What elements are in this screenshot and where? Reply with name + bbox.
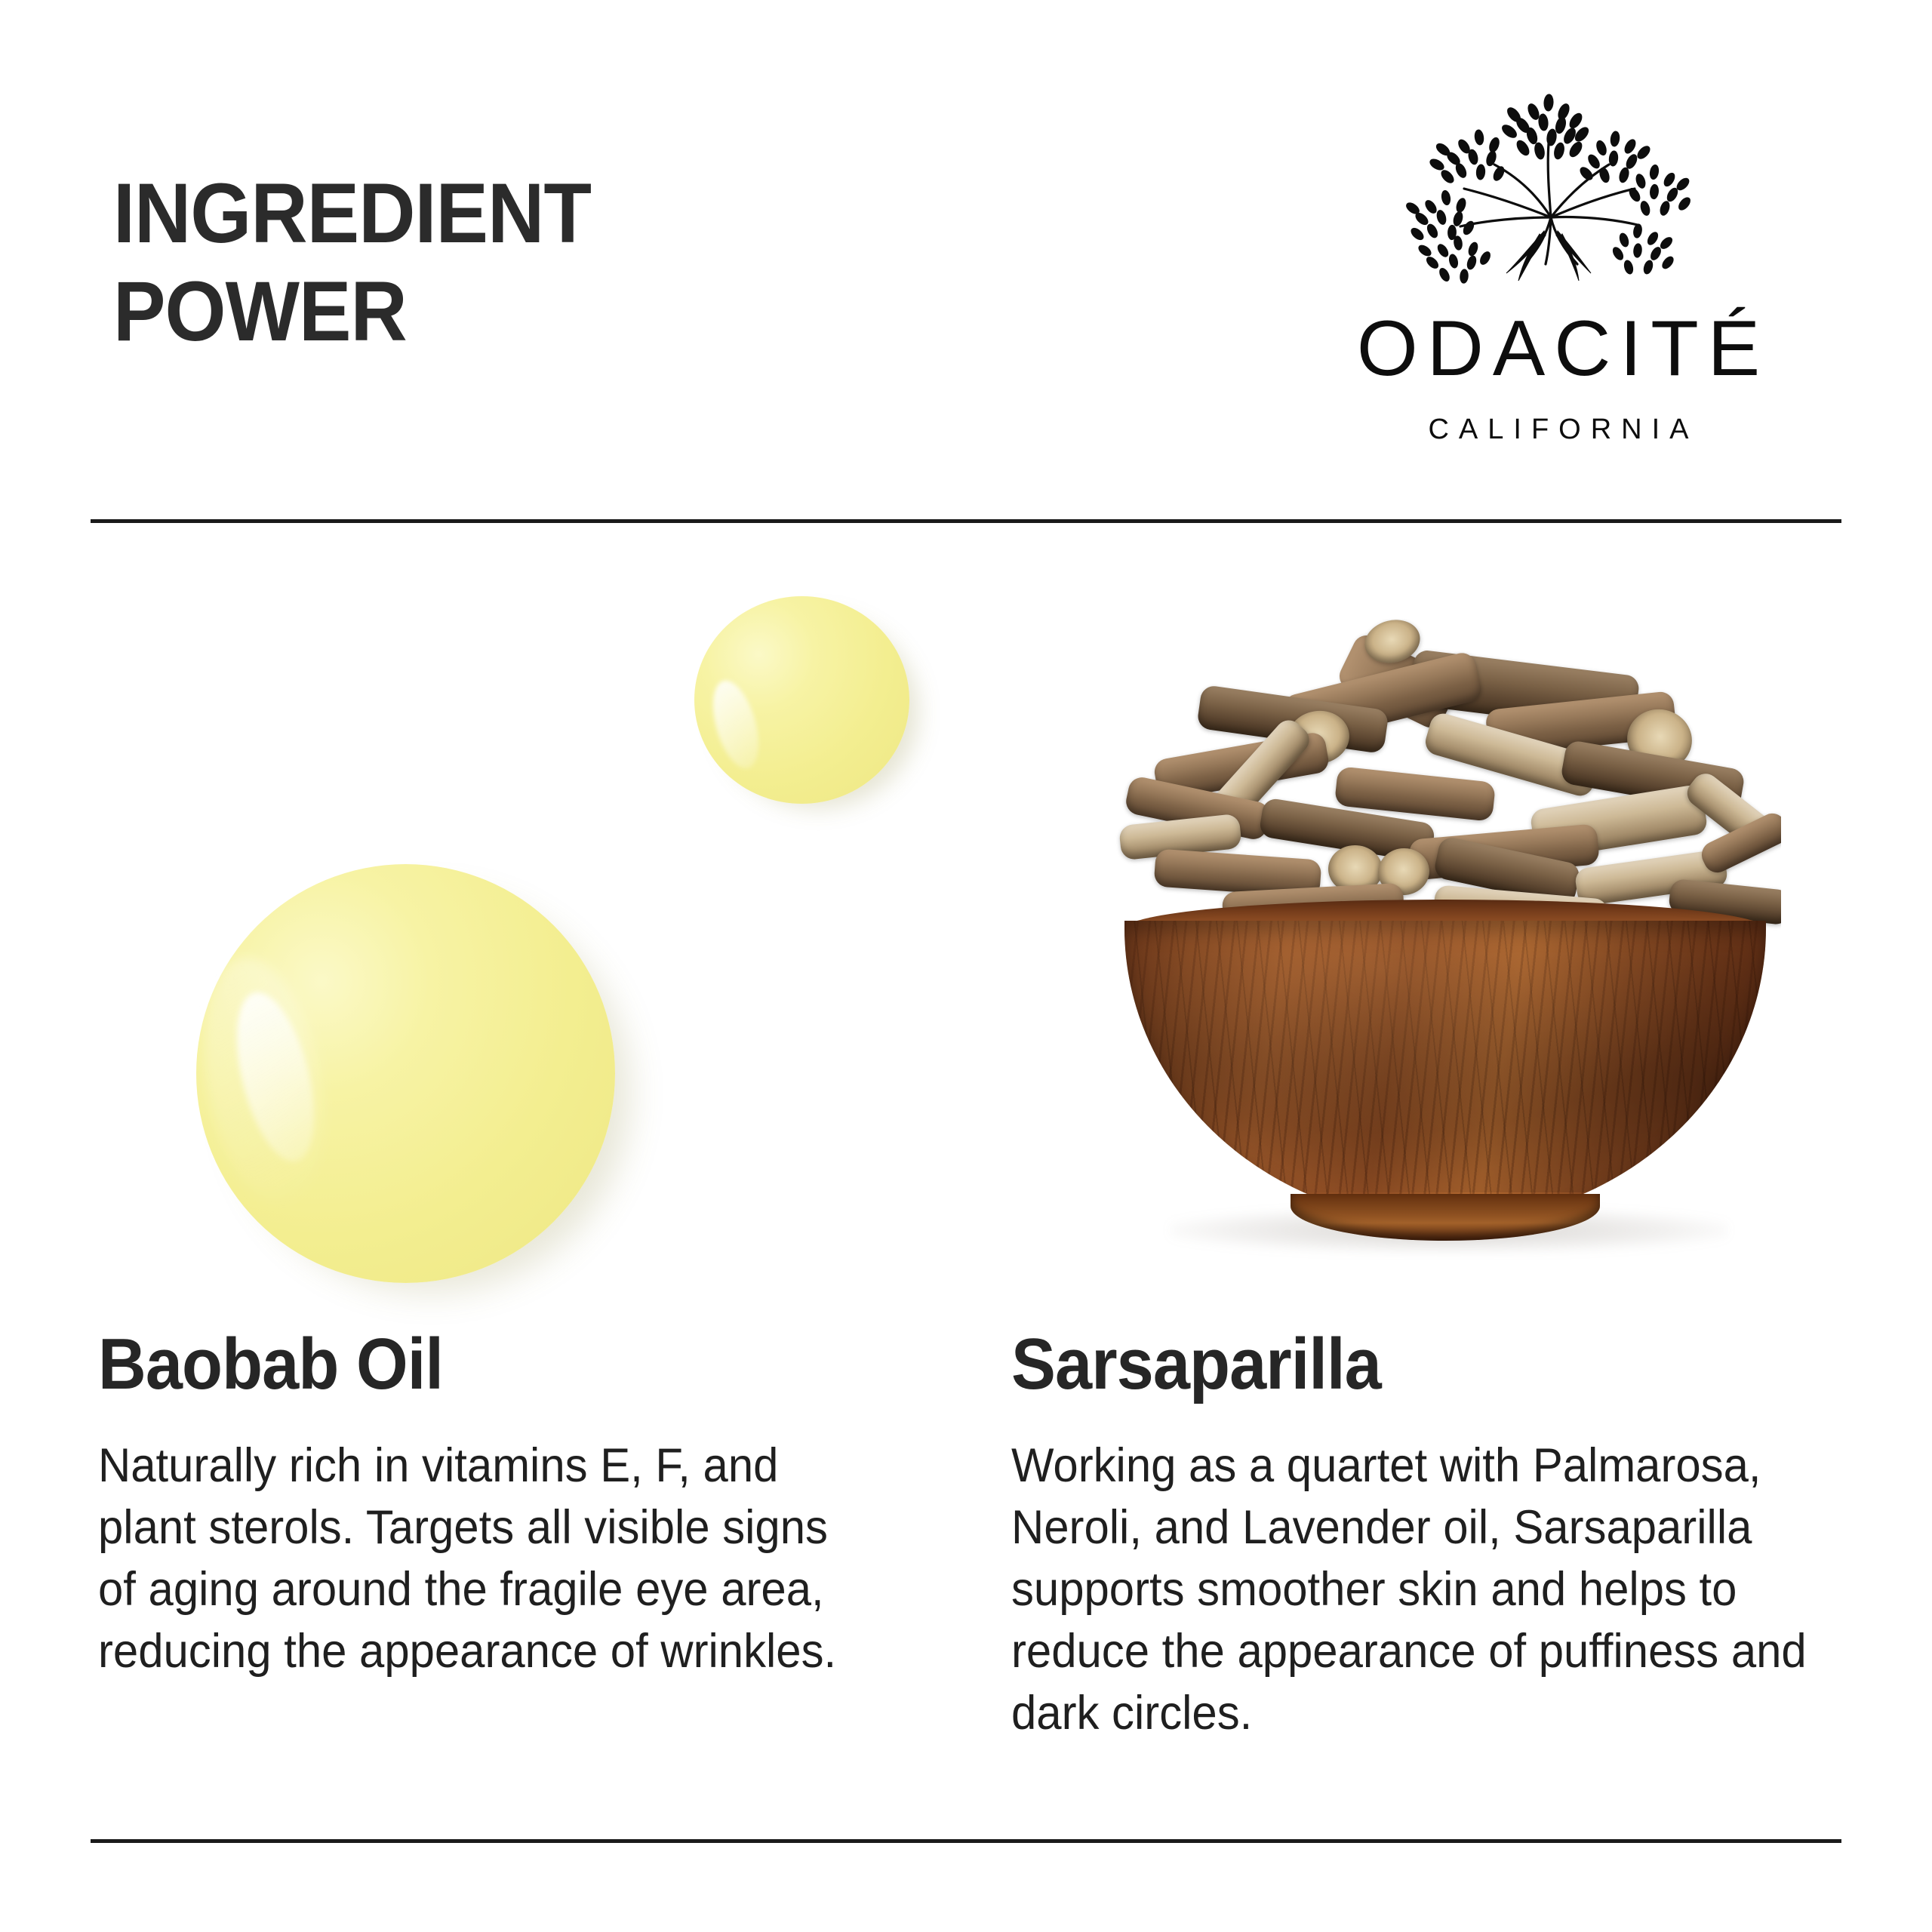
oil-droplet-small: [694, 596, 909, 804]
brand-location: CALIFORNIA: [1257, 415, 1860, 444]
ingredient-card-baobab-oil: Baobab Oil Naturally rich in vitamins E,…: [98, 1328, 898, 1683]
oil-droplet-large: [196, 864, 615, 1283]
brand-wordmark: ODACITÉ: [1257, 309, 1860, 388]
ingredient-card-sarsaparilla: Sarsaparilla Working as a quartet with P…: [1011, 1328, 1864, 1744]
ingredient-description: Naturally rich in vitamins E, F, and pla…: [98, 1435, 858, 1683]
ingredient-cards: Baobab Oil Naturally rich in vitamins E,…: [0, 1328, 1932, 1811]
ingredient-title: Baobab Oil: [98, 1328, 834, 1401]
sarsaparilla-image: [1041, 619, 1849, 1328]
ingredient-title: Sarsaparilla: [1011, 1328, 1796, 1401]
divider-bottom: [91, 1839, 1841, 1843]
ingredient-description: Working as a quartet with Palmarosa, Ner…: [1011, 1435, 1822, 1744]
page-title: INGREDIENT POWER: [113, 165, 591, 361]
page-header: INGREDIENT POWER: [0, 0, 1932, 521]
sarsaparilla-root-pile: [1109, 619, 1781, 943]
brand-logo: ODACITÉ CALIFORNIA: [1257, 83, 1860, 475]
bowl-body: [1124, 921, 1766, 1223]
botanical-umbel-icon: [1389, 83, 1713, 294]
divider-top: [91, 519, 1841, 523]
ingredient-images-row: [0, 574, 1932, 1328]
baobab-oil-image: [91, 574, 996, 1328]
